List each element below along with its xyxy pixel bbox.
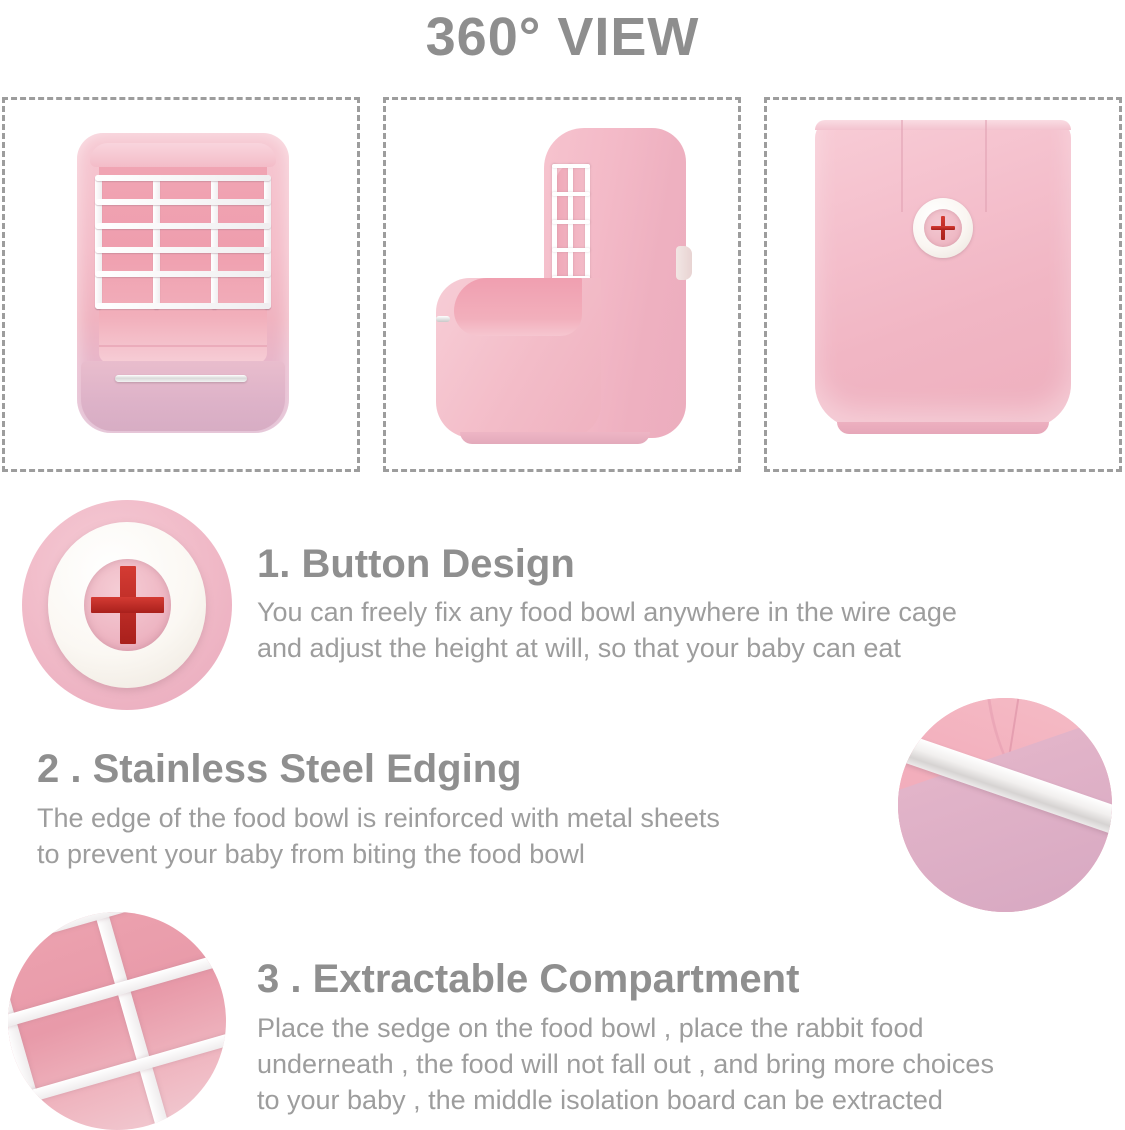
back-base <box>837 422 1049 434</box>
feature-1-line-1: You can freely fix any food bowl anywher… <box>257 594 957 630</box>
side-base <box>460 432 650 444</box>
product-photo-side-view[interactable] <box>383 97 741 472</box>
back-view-image <box>767 100 1119 469</box>
back-rim <box>815 120 1071 130</box>
page-title: 360° VIEW <box>0 2 1125 72</box>
feature-2-heading: 2 . Stainless Steel Edging <box>37 745 522 793</box>
wire-grid-closeup <box>8 912 226 1130</box>
product-front-body <box>77 133 289 433</box>
feature-2-line-2: to prevent your baby from biting the foo… <box>37 836 720 872</box>
front-wire-grid <box>95 175 271 309</box>
feature-3-line-3: to your baby , the middle isolation boar… <box>257 1082 994 1118</box>
front-drawer <box>81 361 285 431</box>
feature-3-description: Place the sedge on the food bowl , place… <box>257 1010 994 1118</box>
feature-1-description: You can freely fix any food bowl anywher… <box>257 594 957 666</box>
front-rim <box>90 143 276 167</box>
cross-screw-icon <box>913 198 973 258</box>
feature-2-line-1: The edge of the food bowl is reinforced … <box>37 800 720 836</box>
feature-2-description: The edge of the food bowl is reinforced … <box>37 800 720 872</box>
side-bowl-cavity <box>454 278 582 336</box>
product-back-body <box>815 120 1071 428</box>
back-seam-left <box>901 120 903 212</box>
product-photo-front-view[interactable] <box>2 97 360 472</box>
back-seam-right <box>985 120 987 212</box>
side-view-image <box>386 100 738 469</box>
feature-1-heading: 1. Button Design <box>257 540 575 588</box>
gallery-360-view <box>0 97 1125 472</box>
feature-3-image-extractable-compartment <box>8 912 226 1130</box>
feature-3-line-2: underneath , the food will not fall out … <box>257 1046 994 1082</box>
front-steel-strip <box>115 375 247 382</box>
feature-3-heading: 3 . Extractable Compartment <box>257 955 799 1003</box>
product-photo-back-view[interactable] <box>764 97 1122 472</box>
feature-2-image-stainless-steel-edging <box>898 698 1112 912</box>
feature-1-line-2: and adjust the height at will, so that y… <box>257 630 957 666</box>
back-shell <box>815 120 1071 428</box>
product-side-body <box>436 128 686 438</box>
side-screw-knob <box>676 246 692 280</box>
cross-screw-icon <box>84 559 171 652</box>
screw-inner-disc <box>924 209 962 247</box>
feature-1-image-button-design <box>22 500 232 710</box>
side-steel-strip <box>436 316 450 322</box>
front-view-image <box>5 100 357 469</box>
feature-3-line-1: Place the sedge on the food bowl , place… <box>257 1010 994 1046</box>
knob-body <box>48 522 206 688</box>
